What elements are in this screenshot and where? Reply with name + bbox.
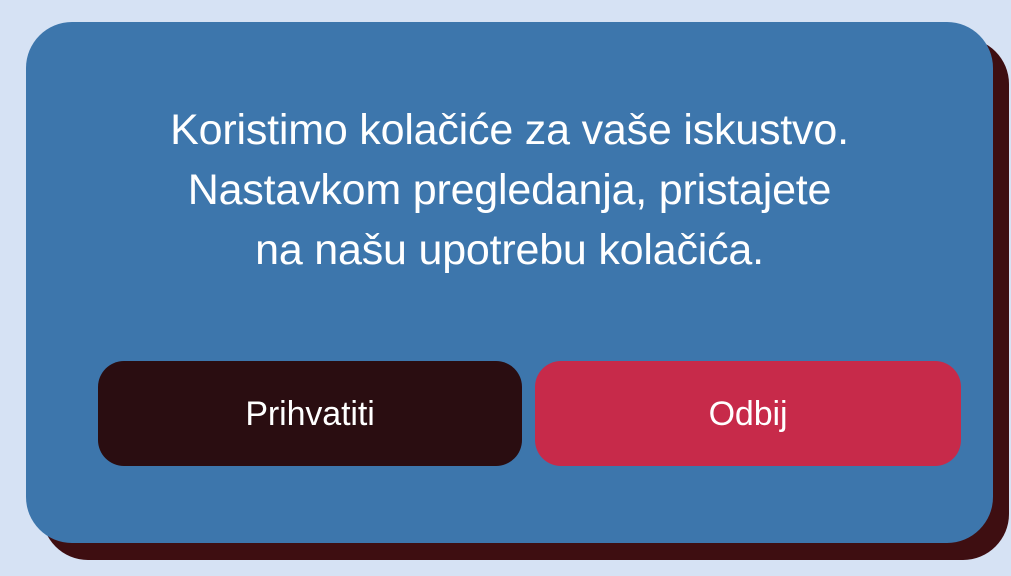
- banner-message: Koristimo kolačiće za vaše iskustvo. Nas…: [70, 100, 950, 280]
- banner-actions: Prihvatiti Odbij: [98, 361, 961, 466]
- banner-message-line-1: Koristimo kolačiće za vaše iskustvo.: [70, 100, 950, 160]
- reject-cookies-button[interactable]: Odbij: [535, 361, 961, 466]
- banner-message-line-2: Nastavkom pregledanja, pristajete: [70, 160, 950, 220]
- page-root: Koristimo kolačiće za vaše iskustvo. Nas…: [0, 0, 1011, 576]
- banner-message-line-3: na našu upotrebu kolačića.: [70, 220, 950, 280]
- accept-cookies-button[interactable]: Prihvatiti: [98, 361, 522, 466]
- cookie-consent-banner: Koristimo kolačiće za vaše iskustvo. Nas…: [26, 22, 993, 543]
